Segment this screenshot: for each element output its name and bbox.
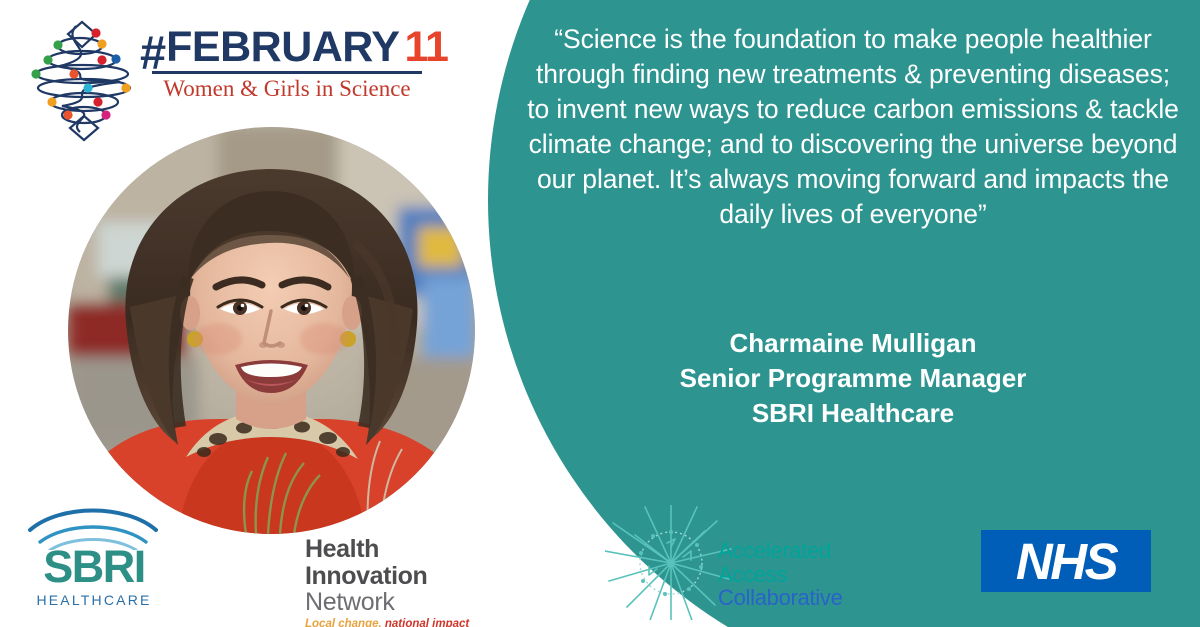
speaker-organisation: SBRI Healthcare	[523, 396, 1183, 431]
aac-line-2: Access	[718, 563, 863, 587]
hin-line-2: Innovation	[305, 563, 480, 590]
sbri-sub-label: HEALTHCARE	[28, 592, 160, 608]
logo-accelerated-access-collaborative: Accelerated Access Collaborative	[605, 505, 860, 620]
hin-tagline: Local change, national impact	[305, 618, 480, 627]
quote-text: “Science is the foundation to make peopl…	[523, 22, 1183, 232]
campaign-subtitle: Women & Girls in Science	[152, 76, 422, 102]
sbri-wordmark: SBRI	[28, 544, 160, 589]
speaker-attribution: Charmaine Mulligan Senior Programme Mana…	[523, 326, 1183, 431]
speaker-portrait	[68, 127, 475, 534]
february-wordmark: # FEBRUARY 11 Women & Girls in Science	[140, 24, 422, 102]
hin-tagline-part2: national impact	[382, 618, 470, 627]
hin-tagline-part1: Local change,	[305, 618, 382, 627]
aac-wordmark: Accelerated Access Collaborative	[718, 539, 863, 610]
hin-line-1: Health	[305, 536, 480, 563]
dna-helix-icon	[30, 14, 138, 142]
hashtag-symbol: #	[140, 32, 164, 74]
logo-health-innovation-network: Health Innovation Network Local change, …	[305, 536, 480, 621]
aac-line-1: Accelerated	[718, 539, 863, 563]
aac-line-3: Collaborative	[718, 586, 863, 610]
poster-canvas: “Science is the foundation to make peopl…	[0, 0, 1200, 627]
nhs-wordmark: NHS	[1016, 536, 1116, 587]
day-number: 11	[404, 27, 447, 68]
portrait-image	[68, 127, 475, 534]
logo-nhs: NHS	[981, 530, 1151, 592]
wordmark-rule	[152, 71, 422, 74]
speaker-role: Senior Programme Manager	[523, 361, 1183, 396]
quote-block: “Science is the foundation to make peopl…	[523, 22, 1183, 232]
logo-sbri-healthcare: SBRI HEALTHCARE	[22, 508, 167, 613]
hin-line-3: Network	[305, 589, 480, 617]
february-11-logo: # FEBRUARY 11 Women & Girls in Science	[22, 10, 422, 120]
radial-burst-icon	[605, 505, 735, 620]
speaker-name: Charmaine Mulligan	[523, 326, 1183, 361]
month-word: FEBRUARY	[166, 27, 399, 68]
